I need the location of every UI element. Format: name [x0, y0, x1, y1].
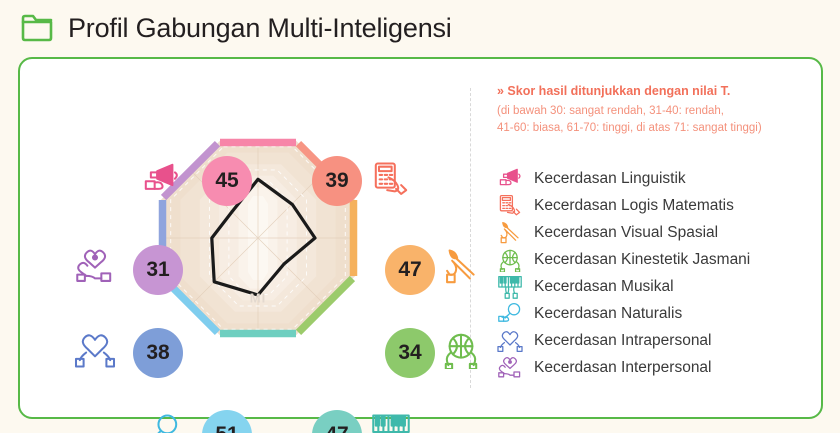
- hands-heart-icon: [497, 329, 523, 353]
- basketball-icon: [497, 248, 523, 272]
- intelligence-legend: Kecerdasan LinguistikKecerdasan Logis Ma…: [497, 166, 750, 381]
- heart-care-icon: [74, 248, 118, 288]
- piano-icon: [497, 275, 523, 299]
- score-note: » Skor hasil ditunjukkan dengan nilai T.…: [497, 84, 807, 136]
- score-value: 39: [325, 169, 348, 193]
- legend-item-kecerdasan-naturalis[interactable]: Kecerdasan Naturalis: [497, 301, 750, 327]
- legend-item-kecerdasan-musikal[interactable]: Kecerdasan Musikal: [497, 274, 750, 300]
- score-value: 47: [398, 258, 421, 282]
- score-bubble-interpersonal[interactable]: 31: [133, 245, 183, 295]
- score-bubble-linguistik[interactable]: 45: [202, 156, 252, 206]
- score-bubble-intrapersonal[interactable]: 38: [133, 328, 183, 378]
- score-value: 34: [398, 341, 421, 365]
- calculator-icon: [497, 194, 523, 218]
- score-value: 45: [215, 169, 238, 193]
- paintbrush-icon: [497, 221, 523, 245]
- magnifier-icon: [497, 302, 523, 326]
- legend-item-kecerdasan-logis-matematis[interactable]: Kecerdasan Logis Matematis: [497, 193, 750, 219]
- paintbrush-icon: [440, 248, 484, 288]
- basketball-icon: [440, 331, 484, 371]
- legend-item-label: Kecerdasan Interpersonal: [534, 359, 712, 377]
- score-value: 51: [215, 423, 238, 433]
- score-note-line2: 41-60: biasa, 61-70: tinggi, di atas 71:…: [497, 120, 807, 137]
- score-bubble-visual[interactable]: 47: [385, 245, 435, 295]
- score-bubble-logis[interactable]: 39: [312, 156, 362, 206]
- legend-item-label: Kecerdasan Linguistik: [534, 170, 686, 188]
- legend-item-kecerdasan-interpersonal[interactable]: Kecerdasan Interpersonal: [497, 355, 750, 381]
- page-header: Profil Gabungan Multi-Inteligensi: [20, 6, 452, 50]
- page-title: Profil Gabungan Multi-Inteligensi: [68, 13, 452, 44]
- radar-center-label: MI: [250, 291, 266, 306]
- magnifier-icon: [140, 413, 184, 433]
- mi-profile-page: Profil Gabungan Multi-Inteligensi: [0, 0, 840, 433]
- heart-care-icon: [497, 356, 523, 380]
- megaphone-icon: [140, 161, 184, 201]
- calculator-icon: [370, 161, 414, 201]
- legend-item-kecerdasan-intrapersonal[interactable]: Kecerdasan Intrapersonal: [497, 328, 750, 354]
- legend-item-label: Kecerdasan Naturalis: [534, 305, 682, 323]
- score-bubble-kinestetik[interactable]: 34: [385, 328, 435, 378]
- folder-icon: [20, 14, 54, 42]
- piano-icon: [370, 413, 414, 433]
- score-note-line1: (di bawah 30: sangat rendah, 31-40: rend…: [497, 103, 807, 120]
- legend-item-label: Kecerdasan Kinestetik Jasmani: [534, 251, 750, 269]
- legend-item-kecerdasan-visual-spasial[interactable]: Kecerdasan Visual Spasial: [497, 220, 750, 246]
- hands-heart-icon: [74, 331, 118, 371]
- score-value: 38: [146, 341, 169, 365]
- score-value: 31: [146, 258, 169, 282]
- radar-chart-area: MI 4539473447513831: [30, 70, 460, 406]
- score-note-title: » Skor hasil ditunjukkan dengan nilai T.: [497, 84, 807, 98]
- legend-item-label: Kecerdasan Visual Spasial: [534, 224, 718, 242]
- legend-item-kecerdasan-linguistik[interactable]: Kecerdasan Linguistik: [497, 166, 750, 192]
- score-value: 47: [325, 423, 348, 433]
- legend-item-label: Kecerdasan Logis Matematis: [534, 197, 734, 215]
- legend-item-label: Kecerdasan Musikal: [534, 278, 674, 296]
- legend-item-kecerdasan-kinestetik-jasmani[interactable]: Kecerdasan Kinestetik Jasmani: [497, 247, 750, 273]
- legend-item-label: Kecerdasan Intrapersonal: [534, 332, 712, 350]
- megaphone-icon: [497, 167, 523, 191]
